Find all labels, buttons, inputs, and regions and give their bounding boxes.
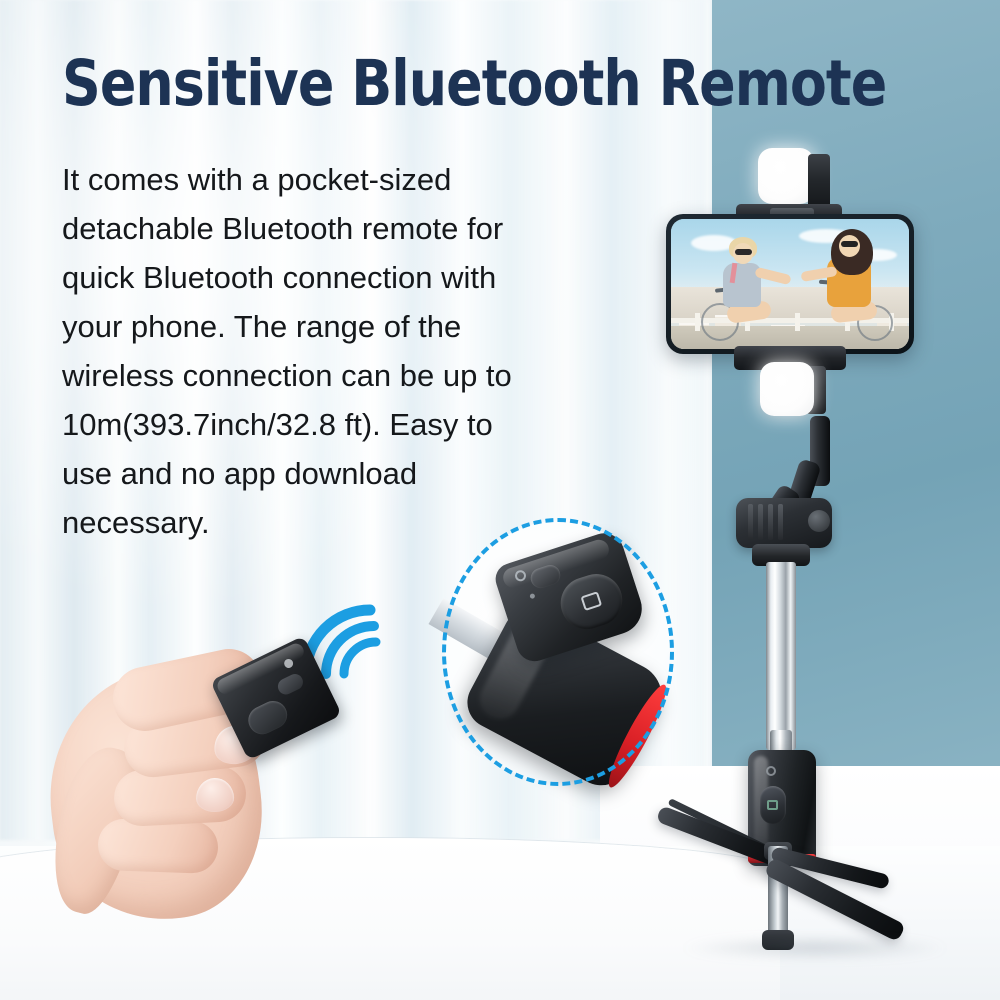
tripod-shadow (680, 936, 950, 960)
cyclist-left-sunglasses (735, 249, 752, 255)
body-line: 10m(393.7inch/32.8 ft). Easy to (62, 400, 627, 449)
page-title: Sensitive Bluetooth Remote (62, 52, 886, 115)
pivot-rib (748, 504, 753, 540)
body-line: detachable Bluetooth remote for (62, 204, 627, 253)
selfie-stick-tripod (640, 130, 980, 960)
product-feature-banner: Sensitive Bluetooth Remote It comes with… (0, 0, 1000, 1000)
body-line: quick Bluetooth connection with (62, 253, 627, 302)
body-line: wireless connection can be up to (62, 351, 627, 400)
handle-shutter-button[interactable] (760, 786, 786, 824)
body-line: your phone. The range of the (62, 302, 627, 351)
hand-holding-remote (28, 618, 368, 958)
tilt-lock-knob[interactable] (808, 510, 830, 532)
fill-light-top[interactable] (758, 148, 814, 204)
mounted-phone (666, 214, 914, 354)
telescoping-pole (766, 562, 796, 750)
pivot-rib (758, 504, 763, 540)
finger (97, 818, 219, 874)
camera-icon (767, 800, 778, 810)
cyclist-right-sunglasses (841, 241, 858, 247)
pivot-rib (768, 504, 773, 540)
body-line: use and no app download (62, 449, 627, 498)
light-stem-top (808, 154, 830, 208)
pivot-rib (778, 504, 783, 540)
gimbal-pivot-joint[interactable] (736, 498, 832, 548)
fill-light-bottom[interactable] (760, 362, 814, 416)
railing-post (795, 313, 800, 331)
shutter-button[interactable] (244, 696, 292, 739)
phone-screen (671, 219, 909, 349)
power-icon (766, 766, 776, 776)
body-description: It comes with a pocket-sized detachable … (62, 155, 627, 547)
power-slider[interactable] (275, 671, 305, 697)
body-line: It comes with a pocket-sized (62, 155, 627, 204)
railing-post (695, 313, 700, 331)
